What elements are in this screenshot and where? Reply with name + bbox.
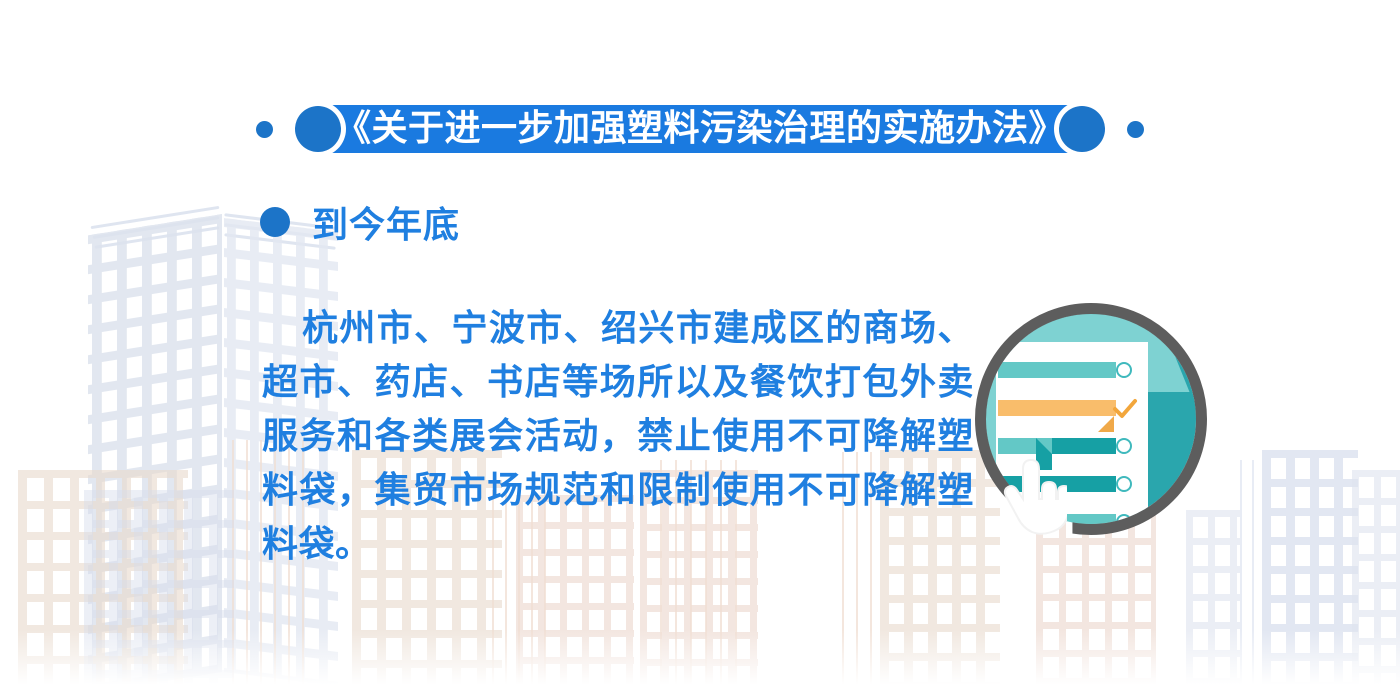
- checklist-circle-illustration: [975, 303, 1207, 535]
- decorative-dot-left-small: [256, 121, 273, 138]
- title-banner-row: 《关于进一步加强塑料污染治理的实施办法》: [0, 96, 1400, 162]
- decorative-dot-right-large: [1059, 106, 1105, 152]
- decorative-dot-left-large: [295, 106, 341, 152]
- decorative-dot-right-small: [1127, 121, 1144, 138]
- page-title: 《关于进一步加强塑料污染治理的实施办法》: [321, 105, 1079, 153]
- pointing-hand-icon: [997, 451, 1067, 543]
- slide-canvas: 《关于进一步加强塑料污染治理的实施办法》 到今年底 杭州市、宁波市、绍兴市建成区…: [0, 0, 1400, 700]
- subtitle-row: 到今年底: [260, 196, 460, 248]
- body-paragraph: 杭州市、宁波市、绍兴市建成区的商场、超市、药店、书店等场所以及餐饮打包外卖服务和…: [262, 302, 974, 572]
- subtitle-label: 到今年底: [312, 196, 460, 248]
- bullet-icon: [260, 207, 290, 237]
